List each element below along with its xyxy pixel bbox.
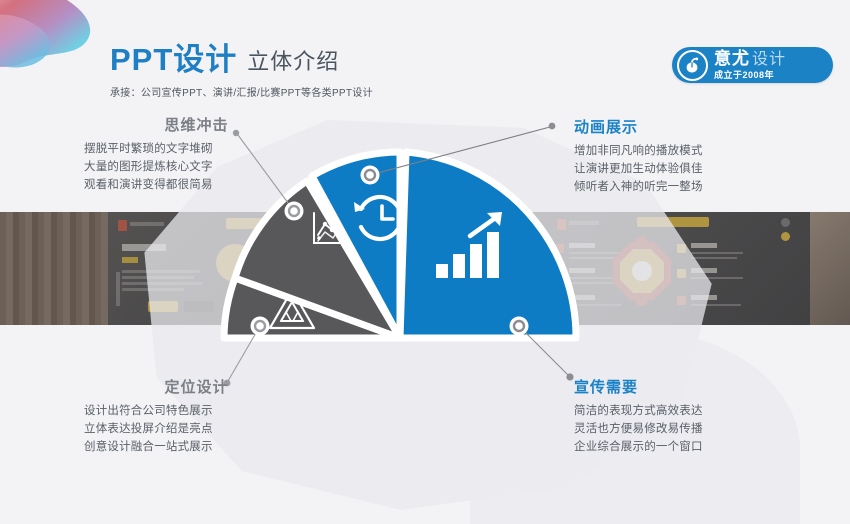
mouse-in-circle-icon	[677, 50, 708, 81]
page-description: 承接：公司宣传PPT、演讲/汇报/比赛PPT等各类PPT设计	[110, 84, 373, 99]
title-row: PPT设计 立体介绍	[110, 44, 339, 75]
block-line: 设计出符合公司特色展示	[84, 402, 309, 420]
block-heading-animation-display: 动画展示	[574, 120, 804, 135]
logo-name-bold: 意尤	[714, 50, 750, 67]
brand-logo[interactable]: 意尤 设计 成立于2008年	[672, 47, 833, 83]
text-block-animation-display: 动画展示 增加非同凡响的播放模式 让演讲更加生动体验俱佳 倾听者入神的听完一整场	[574, 120, 804, 196]
logo-name-light: 设计	[752, 52, 786, 68]
page-title: PPT设计	[110, 44, 237, 75]
block-line: 灵活也方便易修改易传播	[574, 420, 804, 438]
block-line: 让演讲更加生动体验俱佳	[574, 160, 804, 178]
block-line: 立体表达投屏介绍是亮点	[84, 420, 309, 438]
logo-text: 意尤 设计 成立于2008年	[714, 50, 786, 80]
page-subtitle: 立体介绍	[247, 51, 339, 75]
text-block-promotion-need: 宣传需要 简洁的表现方式高效表达 灵活也方便易修改易传播 企业综合展示的一个窗口	[574, 380, 804, 456]
block-line: 倾听者入神的听完一整场	[574, 178, 804, 196]
block-line: 创意设计融合一站式展示	[84, 438, 309, 456]
block-heading-positioning-design: 定位设计	[84, 380, 309, 395]
block-line: 摆脱平时繁琐的文字堆砌	[84, 140, 309, 158]
text-block-thinking-impact: 思维冲击 摆脱平时繁琐的文字堆砌 大量的图形提炼核心文字 观看和演讲变得都很简易	[84, 118, 309, 194]
text-block-positioning-design: 定位设计 设计出符合公司特色展示 立体表达投屏介绍是亮点 创意设计融合一站式展示	[84, 380, 309, 456]
block-line: 企业综合展示的一个窗口	[574, 438, 804, 456]
block-heading-thinking-impact: 思维冲击	[84, 118, 309, 133]
block-heading-promotion-need: 宣传需要	[574, 380, 804, 395]
slide-canvas: PPT设计 立体介绍 承接：公司宣传PPT、演讲/汇报/比赛PPT等各类PPT设…	[0, 0, 850, 524]
segment-bar-chart[interactable]	[400, 152, 576, 338]
block-line: 简洁的表现方式高效表达	[574, 402, 804, 420]
block-line: 大量的图形提炼核心文字	[84, 158, 309, 176]
logo-tagline: 成立于2008年	[714, 71, 786, 80]
block-line: 观看和演讲变得都很简易	[84, 176, 309, 194]
block-line: 增加非同凡响的播放模式	[574, 142, 804, 160]
